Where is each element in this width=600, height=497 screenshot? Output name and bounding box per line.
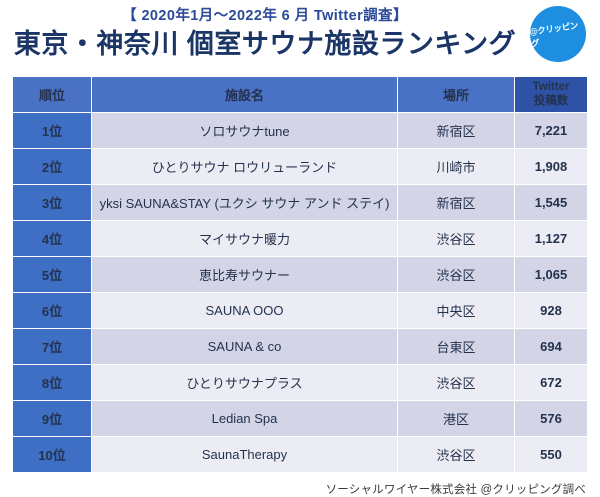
table-row: 7位 SAUNA & co 台東区 694 [13,329,587,364]
facility-name: SAUNA & co [92,329,397,364]
survey-period-subtitle: 【 2020年1月～2022年 6 月 Twitter調査】 [0,6,600,28]
facility-name: ひとりサウナプラス [92,365,397,400]
tweet-count: 1,908 [515,149,587,184]
facility-name: Ledian Spa [92,401,397,436]
facility-name: ソロサウナtune [92,113,397,148]
rank-value: 5位 [13,257,91,292]
rank-value: 3位 [13,185,91,220]
column-header-rank: 順位 [13,77,91,112]
facility-name: 恵比寿サウナー [92,257,397,292]
facility-name: マイサウナ暖力 [92,221,397,256]
facility-name: ひとりサウナ ロウリューランド [92,149,397,184]
facility-place: 新宿区 [398,185,514,220]
facility-place: 港区 [398,401,514,436]
table-row: 6位 SAUNA OOO 中央区 928 [13,293,587,328]
ranking-table-container: 順位 施設名 場所 Twitter 投稿数 1位 ソロサウナtune 新宿区 7… [0,76,600,473]
rank-value: 8位 [13,365,91,400]
tweet-count: 928 [515,293,587,328]
rank-value: 1位 [13,113,91,148]
tweet-count: 550 [515,437,587,472]
tweet-count: 7,221 [515,113,587,148]
column-header-tweet-count: Twitter 投稿数 [515,77,587,112]
page-title: 東京・神奈川 個室サウナ施設ランキング [0,28,600,62]
facility-place: 新宿区 [398,113,514,148]
table-row: 2位 ひとりサウナ ロウリューランド 川崎市 1,908 [13,149,587,184]
facility-name: yksi SAUNA&STAY (ユクシ サウナ アンド ステイ) [92,185,397,220]
table-header-row: 順位 施設名 場所 Twitter 投稿数 [13,77,587,112]
rank-value: 7位 [13,329,91,364]
ranking-table: 順位 施設名 場所 Twitter 投稿数 1位 ソロサウナtune 新宿区 7… [12,76,588,473]
facility-place: 台東区 [398,329,514,364]
facility-place: 川崎市 [398,149,514,184]
table-row: 5位 恵比寿サウナー 渋谷区 1,065 [13,257,587,292]
table-row: 4位 マイサウナ暖力 渋谷区 1,127 [13,221,587,256]
table-row: 9位 Ledian Spa 港区 576 [13,401,587,436]
tweet-count: 1,545 [515,185,587,220]
rank-value: 6位 [13,293,91,328]
source-footer: ソーシャルワイヤー株式会社 @クリッピング調べ [0,473,600,497]
logo-label: @クリッピング [529,18,588,50]
column-header-place: 場所 [398,77,514,112]
facility-place: 渋谷区 [398,257,514,292]
facility-place: 渋谷区 [398,437,514,472]
facility-place: 中央区 [398,293,514,328]
table-row: 8位 ひとりサウナプラス 渋谷区 672 [13,365,587,400]
tweet-count: 694 [515,329,587,364]
table-row: 10位 SaunaTherapy 渋谷区 550 [13,437,587,472]
tweet-count: 1,065 [515,257,587,292]
table-row: 3位 yksi SAUNA&STAY (ユクシ サウナ アンド ステイ) 新宿区… [13,185,587,220]
tweet-count: 1,127 [515,221,587,256]
table-body: 1位 ソロサウナtune 新宿区 7,221 2位 ひとりサウナ ロウリューラン… [13,113,587,472]
rank-value: 10位 [13,437,91,472]
tweet-count-label-line2: 投稿数 [515,95,587,108]
facility-place: 渋谷区 [398,221,514,256]
tweet-count: 672 [515,365,587,400]
table-row: 1位 ソロサウナtune 新宿区 7,221 [13,113,587,148]
column-header-name: 施設名 [92,77,397,112]
rank-value: 4位 [13,221,91,256]
tweet-count-label-line1: Twitter [515,81,587,94]
tweet-count: 576 [515,401,587,436]
rank-value: 9位 [13,401,91,436]
rank-value: 2位 [13,149,91,184]
facility-name: SaunaTherapy [92,437,397,472]
table-header: 順位 施設名 場所 Twitter 投稿数 [13,77,587,112]
facility-name: SAUNA OOO [92,293,397,328]
page-header: 【 2020年1月～2022年 6 月 Twitter調査】 東京・神奈川 個室… [0,0,600,76]
facility-place: 渋谷区 [398,365,514,400]
